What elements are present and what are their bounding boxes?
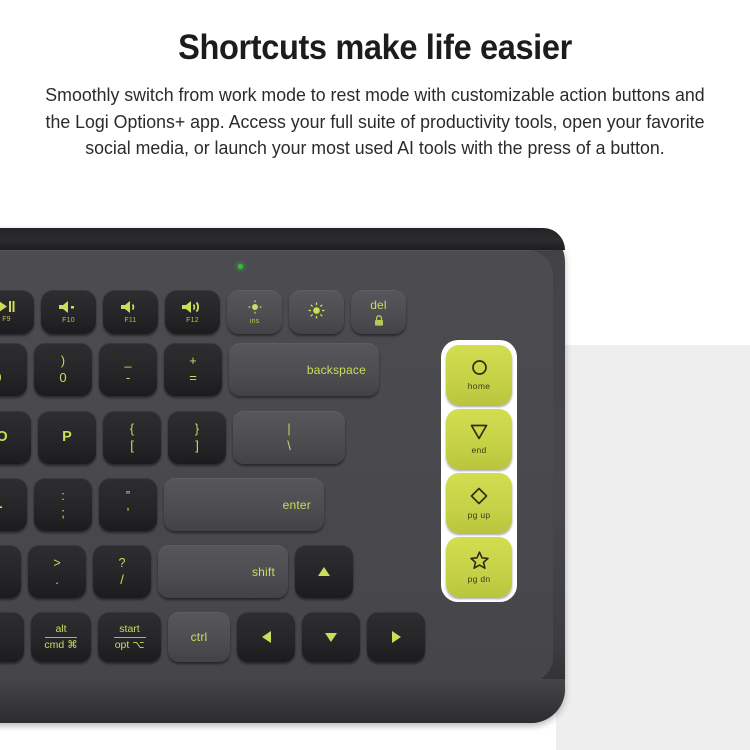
key-secondary-label: cmd ⌘ (44, 640, 77, 651)
key-shift-label: _ (125, 355, 132, 368)
action-key-home[interactable]: home (446, 345, 512, 405)
arrow-left-icon (262, 631, 271, 643)
volume-down-icon (121, 301, 140, 313)
key-sublabel: F9 (2, 316, 11, 323)
home-key-row: K L : ; ” ’ enter (0, 478, 331, 531)
key-backslash[interactable]: | \ (233, 411, 345, 464)
volume-mute-icon (59, 301, 78, 313)
key-label: enter (283, 499, 311, 511)
action-key-label: home (468, 381, 490, 391)
key-label: shift (252, 566, 275, 578)
qwerty-key-row: I O P { [ } ] | \ (0, 411, 352, 464)
key-enter[interactable]: enter (164, 478, 324, 531)
key-brightness-down[interactable]: ins (227, 290, 282, 334)
key-label: del (370, 299, 387, 311)
key-shift-label: + (189, 355, 196, 368)
key-bracket-right[interactable]: } ] (168, 411, 226, 464)
promo-copy-block: Shortcuts make life easier Smoothly swit… (0, 0, 750, 161)
keyboard-product-image: F9 F10 F11 F12 ins (0, 228, 565, 723)
key-shift-label: { (130, 423, 134, 436)
key-start-opt[interactable]: start opt ⌥ (98, 612, 161, 662)
key-0[interactable]: ) 0 (34, 343, 92, 396)
key-label: 9 (0, 371, 2, 384)
key-arrow-right[interactable] (367, 612, 425, 662)
brightness-up-icon (308, 302, 325, 319)
page-title: Shortcuts make life easier (26, 28, 724, 68)
key-label: P (62, 430, 72, 445)
key-shift-label: ) (61, 355, 65, 368)
key-primary-label: start (119, 624, 139, 637)
function-key-row: F9 F10 F11 F12 ins (0, 290, 413, 334)
key-divider (45, 637, 77, 638)
key-minus[interactable]: _ - (99, 343, 157, 396)
key-ctrl[interactable]: ctrl (168, 612, 230, 662)
key-label: \ (287, 439, 291, 452)
key-spacebar-partial[interactable] (0, 612, 24, 662)
key-backspace[interactable]: backspace (229, 343, 379, 396)
action-key-label: pg dn (468, 574, 491, 584)
key-bracket-left[interactable]: { [ (103, 411, 161, 464)
key-shift-label: ” (126, 490, 130, 503)
key-shift-label: } (195, 423, 199, 436)
keyboard-bottom-chin (0, 679, 565, 723)
circle-icon (471, 359, 488, 376)
action-key-pgup[interactable]: pg up (446, 473, 512, 533)
key-shift-right[interactable]: shift (158, 545, 288, 598)
key-divider (114, 637, 146, 638)
key-sublabel: ins (250, 318, 260, 325)
star-icon (470, 551, 489, 569)
key-label: L (0, 497, 2, 512)
key-alt-cmd[interactable]: alt cmd ⌘ (31, 612, 91, 662)
key-o[interactable]: O (0, 411, 31, 464)
key-semicolon[interactable]: : ; (34, 478, 92, 531)
key-comma[interactable]: < , (0, 545, 21, 598)
key-label: / (120, 573, 124, 586)
key-label: O (0, 430, 8, 445)
arrow-right-icon (392, 631, 401, 643)
key-label: ’ (127, 506, 130, 519)
key-shift-label: | (287, 423, 290, 436)
key-label: = (189, 371, 197, 384)
key-9[interactable]: ( 9 (0, 343, 27, 396)
key-sublabel: F12 (186, 317, 199, 324)
key-brightness-up[interactable] (289, 290, 344, 334)
arrow-up-icon (318, 567, 330, 576)
arrow-down-icon (325, 633, 337, 642)
play-pause-icon (0, 301, 15, 312)
key-delete[interactable]: del (351, 290, 406, 334)
key-f11-volume-down[interactable]: F11 (103, 290, 158, 334)
lock-icon (374, 315, 384, 326)
smart-action-key-column: home end pg up pg dn (441, 340, 517, 602)
key-quote[interactable]: ” ’ (99, 478, 157, 531)
action-key-end[interactable]: end (446, 409, 512, 469)
power-led-icon (238, 264, 243, 269)
volume-up-icon (182, 301, 203, 313)
key-secondary-label: opt ⌥ (115, 640, 145, 651)
key-label: ] (195, 439, 199, 452)
key-equals[interactable]: + = (164, 343, 222, 396)
key-f10-mute[interactable]: F10 (41, 290, 96, 334)
modifier-key-row: alt cmd ⌘ start opt ⌥ ctrl (0, 612, 432, 662)
keyboard-top-bezel (0, 228, 565, 250)
key-primary-label: alt (55, 624, 66, 637)
brightness-down-icon (248, 300, 262, 314)
action-key-pgdn[interactable]: pg dn (446, 537, 512, 597)
key-shift-label: ? (119, 557, 126, 570)
key-slash[interactable]: ? / (93, 545, 151, 598)
triangle-down-icon (470, 424, 488, 440)
key-f9-play-pause[interactable]: F9 (0, 290, 34, 334)
key-f12-volume-up[interactable]: F12 (165, 290, 220, 334)
keyboard-deck-highlight (0, 250, 553, 251)
key-period[interactable]: > . (28, 545, 86, 598)
diamond-icon (470, 487, 488, 505)
key-arrow-down[interactable] (302, 612, 360, 662)
key-label: - (126, 371, 130, 384)
key-sublabel: F10 (62, 317, 75, 324)
action-key-label: end (471, 445, 486, 455)
key-label: ctrl (191, 631, 208, 643)
body-paragraph: Smoothly switch from work mode to rest m… (36, 82, 714, 161)
key-l[interactable]: L (0, 478, 27, 531)
number-key-row: ( 9 ) 0 _ - + = backspace (0, 343, 386, 396)
key-arrow-up[interactable] (295, 545, 353, 598)
key-label: 0 (59, 371, 66, 384)
key-label: . (55, 573, 59, 586)
key-arrow-left[interactable] (237, 612, 295, 662)
key-label: [ (130, 439, 134, 452)
key-label: backspace (307, 364, 366, 376)
key-shift-label: > (53, 557, 60, 570)
action-key-label: pg up (468, 510, 491, 520)
shift-key-row: < , > . ? / shift (0, 545, 360, 598)
background-panel (556, 345, 750, 750)
key-label: ; (61, 506, 65, 519)
key-p[interactable]: P (38, 411, 96, 464)
key-sublabel: F11 (124, 317, 136, 324)
key-shift-label: : (61, 490, 64, 503)
